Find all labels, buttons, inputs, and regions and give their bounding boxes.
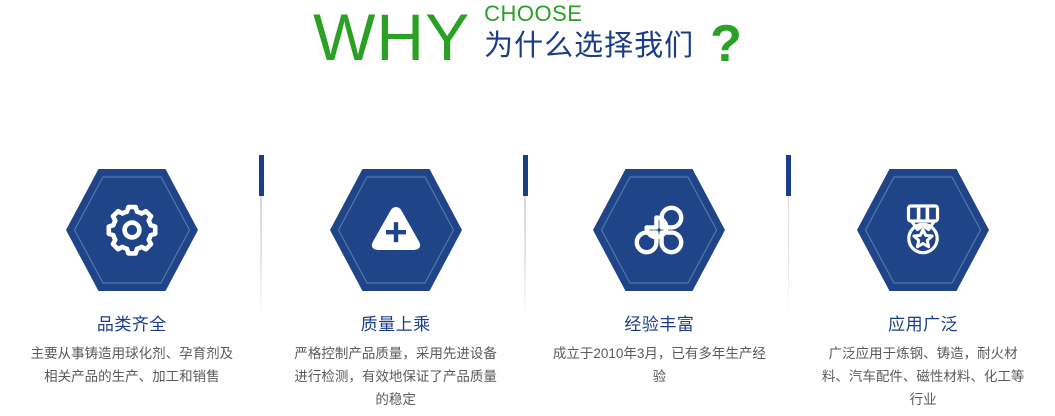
hexagon-badge [592,168,726,292]
hexagon-shape [65,168,199,292]
feature-card-grid: 品类齐全 主要从事铸造用球化剂、孕育剂及相关产品的生产、加工和销售 质量上乘 严… [0,150,1055,416]
hexagon-shape [329,168,463,292]
feature-card-description: 广泛应用于炼钢、铸造，耐火材料、汽车配件、磁性材料、化工等行业 [816,342,1030,411]
divider-grey-segment [524,196,526,316]
header-middle-block: CHOOSE 为什么选择我们 [470,0,694,66]
header-choose-text: CHOOSE [484,2,582,26]
header-row: WHY CHOOSE 为什么选择我们 ? [0,0,1055,90]
feature-card-title: 经验丰富 [624,314,694,336]
feature-card-title: 应用广泛 [888,314,958,336]
hexagon-shape [856,168,990,292]
feature-card-title: 品类齐全 [97,314,167,336]
hexagon-badge [329,168,463,292]
header-why-text: WHY [313,0,470,72]
hexagon-badge [65,168,199,292]
header-question-mark: ? [694,0,742,72]
section-header: WHY CHOOSE 为什么选择我们 ? [0,0,1055,100]
hexagon-badge [856,168,990,292]
feature-card-title: 质量上乘 [361,314,431,336]
hexagon-shape [592,168,726,292]
feature-card[interactable]: 品类齐全 主要从事铸造用球化剂、孕育剂及相关产品的生产、加工和销售 [0,150,264,416]
feature-card[interactable]: 经验丰富 成立于2010年3月，已有多年生产经验 [528,150,792,416]
divider-grey-segment [788,196,790,316]
feature-card[interactable]: 应用广泛 广泛应用于炼钢、铸造，耐火材料、汽车配件、磁性材料、化工等行业 [791,150,1055,416]
divider-grey-segment [260,196,262,316]
feature-card-description: 成立于2010年3月，已有多年生产经验 [552,342,766,388]
feature-card[interactable]: 质量上乘 严格控制产品质量，采用先进设备进行检测，有效地保证了产品质量的稳定 [264,150,528,416]
feature-card-description: 主要从事铸造用球化剂、孕育剂及相关产品的生产、加工和销售 [25,342,239,388]
header-chinese-text: 为什么选择我们 [484,26,694,66]
feature-card-description: 严格控制产品质量，采用先进设备进行检测，有效地保证了产品质量的稳定 [289,342,503,411]
